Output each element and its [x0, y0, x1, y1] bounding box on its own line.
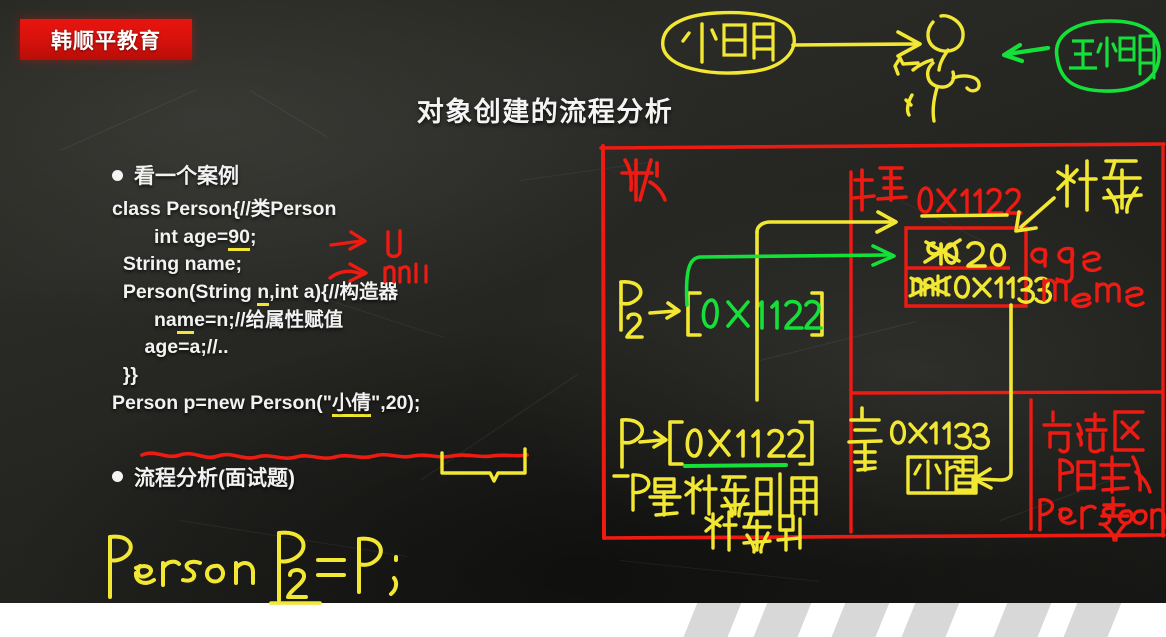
watermark-bar — [828, 603, 891, 637]
bullet-item-flow: 流程分析(面试题) — [112, 462, 592, 492]
code-line: class Person{//类Person — [112, 196, 592, 224]
bullet-label-case: 看一个案例 — [134, 160, 239, 190]
watermark-bar — [990, 603, 1053, 637]
code-line: age=a;//.. — [112, 334, 592, 362]
watermark-bar — [680, 603, 743, 637]
page-title-text: 对象创建的流程分析 — [417, 90, 674, 129]
bullet-dot-icon — [112, 170, 123, 181]
bottom-watermark-strip — [0, 603, 1166, 637]
brand-badge: 韩顺平教育 — [20, 19, 192, 60]
code-token-arg-name: 小倩 — [332, 392, 371, 417]
code-token-name-assign: m — [177, 309, 194, 334]
bullet-item-case: 看一个案例 — [112, 160, 592, 190]
bullet-dot-icon — [112, 471, 123, 482]
page-title: 对象创建的流程分析 — [0, 90, 1166, 129]
code-line: Person(String n,int a){//构造器 — [112, 279, 592, 307]
brand-badge-label: 韩顺平教育 — [51, 25, 161, 55]
bullet-label-flow: 流程分析(面试题) — [134, 462, 295, 492]
code-line: Person p=new Person("小倩",20); — [112, 390, 592, 418]
code-line: name=n;//给属性赋值 — [112, 307, 592, 335]
code-line: }} — [112, 362, 592, 390]
left-content-panel: 看一个案例 class Person{//类Person int age=90;… — [112, 160, 592, 492]
code-token-age-value: 90 — [228, 226, 250, 251]
watermark-bar — [750, 603, 813, 637]
code-line: int age=90; — [112, 224, 592, 252]
watermark-bar — [1060, 603, 1123, 637]
code-line: String name; — [112, 251, 592, 279]
slide-screenshot: 韩顺平教育 对象创建的流程分析 看一个案例 class Person{//类Pe… — [0, 0, 1166, 637]
code-token-param-n: n — [257, 281, 269, 306]
watermark-bar — [898, 603, 961, 637]
